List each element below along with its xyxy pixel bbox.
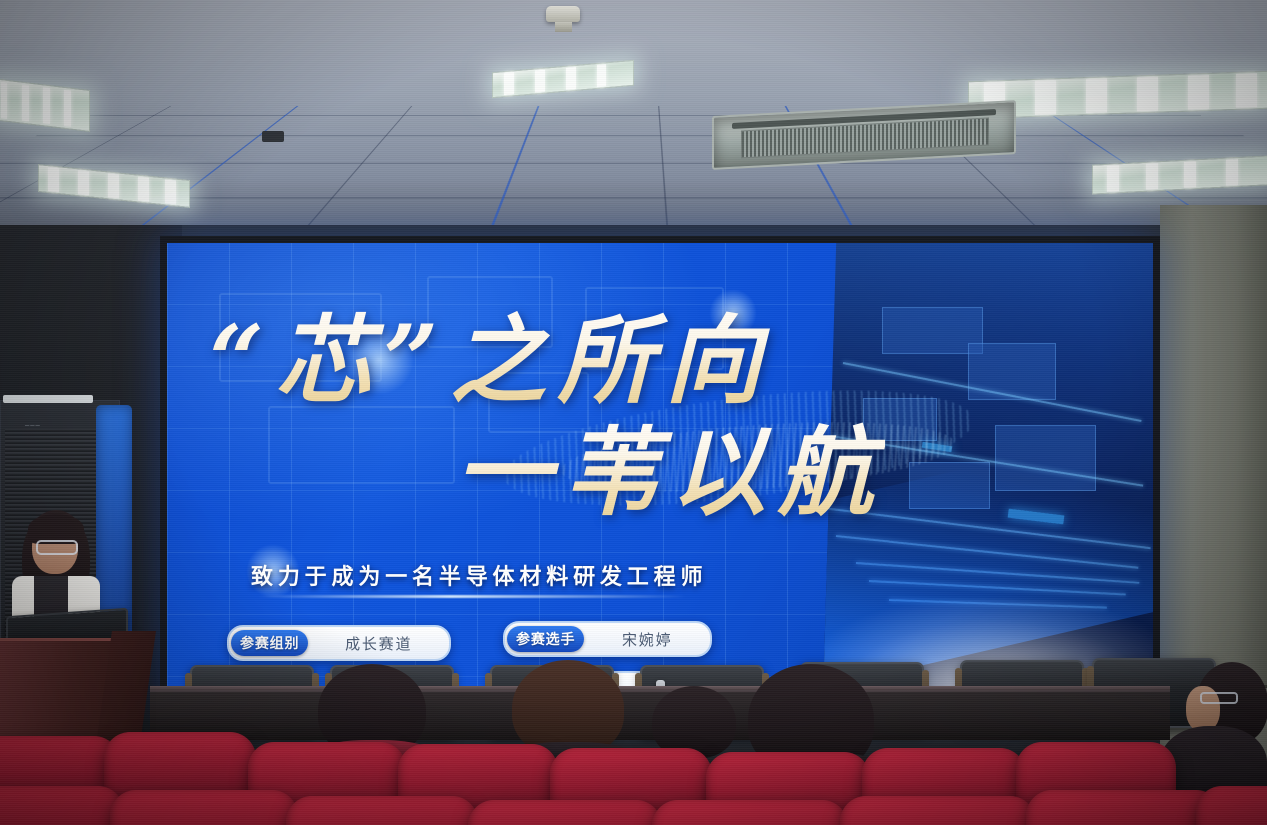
auditorium-seat (840, 796, 1036, 825)
auditorium-seat (110, 790, 298, 825)
eyeglasses-icon (36, 540, 78, 555)
fluorescent-troffer-light (492, 60, 634, 98)
rack-label: ─── (25, 423, 41, 429)
info-pill-player: 参赛选手 宋婉婷 (503, 621, 712, 657)
rack-top-cover (3, 395, 93, 403)
slide-subtitle: 致力于成为一名半导体材料研发工程师 (251, 559, 707, 591)
ceiling-sensor-icon (262, 131, 284, 142)
auditorium-seat (0, 786, 124, 825)
info-pill-value: 宋婉婷 (584, 629, 710, 650)
info-pill-key: 参赛组别 (231, 630, 308, 656)
auditorium-seat (1026, 790, 1222, 825)
auditorium-seat (1196, 786, 1267, 825)
subtitle-divider (257, 595, 687, 598)
info-pill-group: 参赛组别 成长赛道 (227, 625, 451, 661)
slide-title-line-2: 一苇以航 (455, 395, 885, 534)
auditorium-seat (286, 796, 478, 825)
eyeglasses-icon (1200, 692, 1238, 704)
led-video-wall: “芯”之所向 一苇以航 致力于成为一名半导体材料研发工程师 参赛组别 成长赛道 … (167, 243, 1153, 699)
conference-hall-photo: ─── (0, 0, 1267, 825)
info-pill-value: 成长赛道 (308, 633, 449, 654)
suspended-ceiling (0, 0, 1267, 236)
info-pill-key: 参赛选手 (507, 626, 584, 652)
fluorescent-troffer-light (0, 78, 90, 132)
auditorium-seat (652, 800, 848, 825)
auditorium-seat (468, 800, 662, 825)
slide-content: “芯”之所向 一苇以航 致力于成为一名半导体材料研发工程师 参赛组别 成长赛道 … (167, 243, 1153, 699)
smoke-detector-icon (546, 6, 580, 22)
ceiling-tile-grid (0, 106, 1267, 236)
led-screen-bezel: “芯”之所向 一苇以航 致力于成为一名半导体材料研发工程师 参赛组别 成长赛道 … (160, 236, 1160, 706)
